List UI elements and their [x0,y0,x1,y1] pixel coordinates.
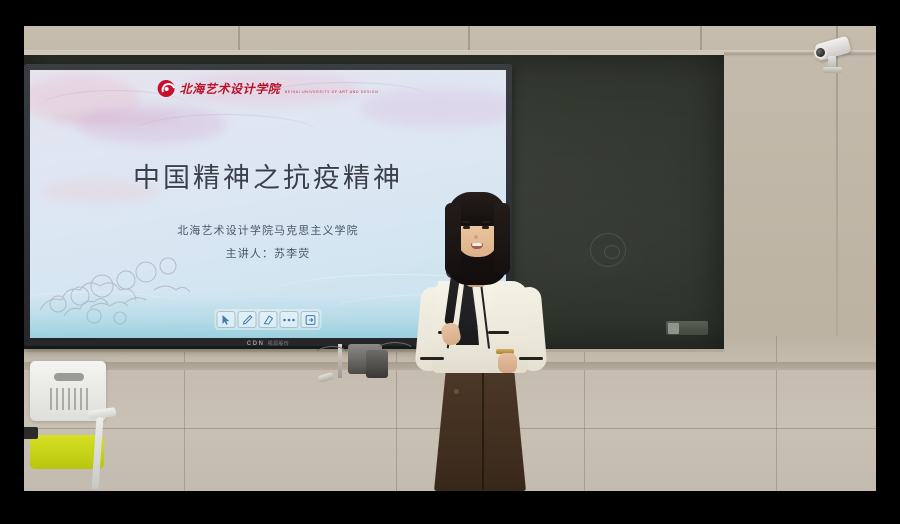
cursor-icon[interactable] [217,311,236,328]
display-brand-name-cn: 视源股份 [268,340,290,347]
screenshot-root: 北海艺术设计学院 BEIHAI UNIVERSITY OF ART AND DE… [0,0,900,524]
letterbox-bar-bottom [0,491,900,524]
presenter-hair-side [494,203,510,275]
presenter [402,181,562,491]
presenter-eye [482,226,489,229]
exit-icon[interactable] [301,311,320,328]
presenter-skirt [434,359,526,491]
logo-name-en: BEIHAI UNIVERSITY OF ART AND DESIGN [285,90,379,94]
chalk-smudge [604,245,620,259]
classroom-chair [24,361,132,491]
swirl-logo-icon [158,80,175,97]
chair-handle-slot [54,373,84,381]
presenter-cuff-trim [519,357,543,360]
blackboard-control-tag[interactable] [666,321,708,335]
eraser-icon[interactable] [259,311,278,328]
presenter-hair-side [445,203,461,275]
presenter-mouth [471,243,483,249]
letterbox-bar-left [0,0,24,524]
watercolor-wisp [50,114,180,124]
presenter-nose [474,235,478,239]
presenter-skirt-button [454,389,459,394]
classroom-scene: 北海艺术设计学院 BEIHAI UNIVERSITY OF ART AND DE… [24,26,876,491]
letterbox-bar-right [876,0,900,524]
presenter-skirt-seam [482,363,484,489]
floor-grout-line [584,336,585,491]
floor-grout-line [184,336,185,491]
letterbox-bar-top [0,0,900,26]
camera-base [823,67,842,73]
slide-logo-text: 北海艺术设计学院 BEIHAI UNIVERSITY OF ART AND DE… [180,81,379,97]
pen-icon[interactable] [238,311,257,328]
presenter-cuff-trim [420,357,444,360]
presenter-eyebrow [482,221,490,223]
surveillance-camera [810,34,858,78]
blackboard-tag-button[interactable] [668,323,679,334]
presenter-pocket-trim [488,331,509,334]
presenter-hand-right [498,353,517,373]
presenter-eyebrow [462,221,470,223]
floor-grout-line [776,336,777,491]
logo-name-cn: 北海艺术设计学院 [180,82,281,96]
slide-logo: 北海艺术设计学院 BEIHAI UNIVERSITY OF ART AND DE… [158,80,379,97]
more-options-icon[interactable] [280,311,299,328]
display-brand-name: CDN [247,341,265,347]
presenter-eye [463,226,470,229]
display-brand: CDN 视源股份 [247,340,289,347]
chair-shadow [24,427,38,439]
annotation-toolbar[interactable] [215,309,322,330]
cable-wire [312,346,352,372]
cable-plug [317,372,334,383]
